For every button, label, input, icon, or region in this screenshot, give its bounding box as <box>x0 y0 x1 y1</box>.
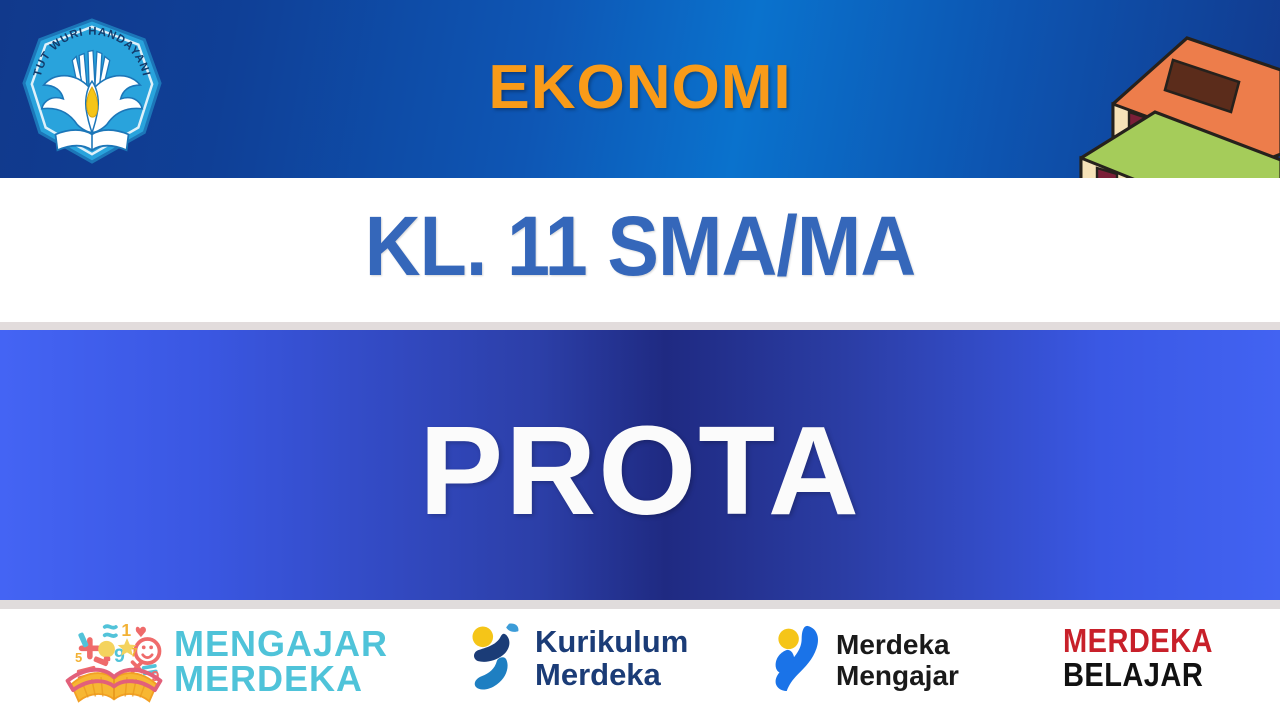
kurikulum-merdeka-line1: Kurikulum <box>535 624 688 659</box>
merdeka-belajar-line2: BELAJAR <box>1063 658 1213 692</box>
separator-top <box>0 322 1280 330</box>
separator-bottom <box>0 600 1280 609</box>
merdeka-belajar-label: MERDEKA BELAJAR <box>1063 624 1213 692</box>
merdeka-mengajar-label: Merdeka Mengajar <box>836 629 959 691</box>
grade-title: KL. 11 SMA/MA <box>51 198 1229 295</box>
mengajar-merdeka-line2: MERDEKA <box>174 661 388 696</box>
svg-text:1: 1 <box>121 620 131 640</box>
kurikulum-merdeka-label: Kurikulum Merdeka <box>535 625 688 691</box>
open-book-with-symbols-icon: 1 9 7 5 9 3 <box>62 612 166 710</box>
tut-wuri-handayani-logo: TUT WURI HANDAYANI <box>18 16 166 166</box>
kurikulum-merdeka-line2: Merdeka <box>535 658 688 691</box>
banner-title: PROTA <box>0 398 1280 543</box>
person-figure-icon <box>770 622 824 698</box>
merdeka-belajar-line1: MERDEKA <box>1063 624 1213 658</box>
kurikulum-merdeka-logo: Kurikulum Merdeka <box>465 618 688 698</box>
person-figure-icon <box>465 618 523 698</box>
mengajar-merdeka-label: MENGAJAR MERDEKA <box>174 626 388 696</box>
mengajar-merdeka-logo: 1 9 7 5 9 3 <box>62 612 388 710</box>
merdeka-mengajar-line1: Merdeka <box>836 629 950 660</box>
svg-text:5: 5 <box>75 650 82 665</box>
merdeka-mengajar-line2: Mengajar <box>836 660 959 691</box>
merdeka-mengajar-logo: Merdeka Mengajar <box>770 622 959 698</box>
merdeka-belajar-logo: MERDEKA BELAJAR <box>1063 624 1233 692</box>
